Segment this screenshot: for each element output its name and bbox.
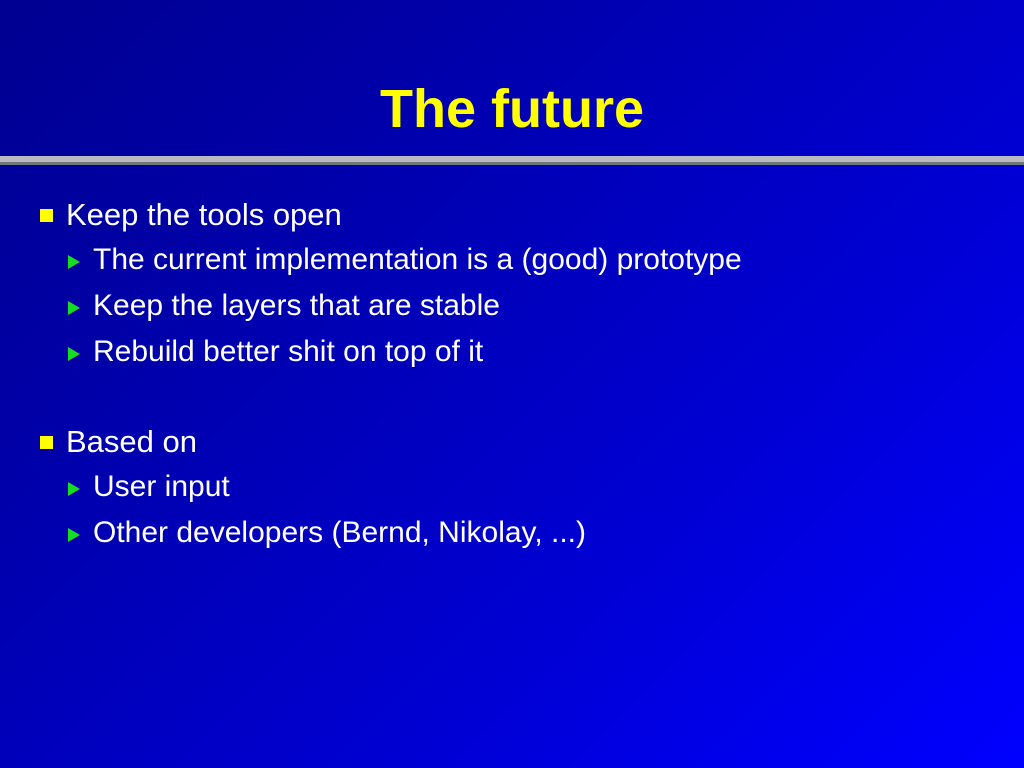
bullet-text: Other developers (Bernd, Nikolay, ...): [93, 514, 586, 552]
bullet-text: Keep the layers that are stable: [93, 287, 500, 325]
bullet-text: User input: [93, 468, 230, 506]
bullet-item-level2: Other developers (Bernd, Nikolay, ...): [0, 514, 1024, 560]
green-triangle-bullet-icon: [68, 347, 80, 361]
divider-dark-bar: [0, 162, 1024, 165]
title-divider: [0, 156, 1024, 165]
bullet-item-level1: Based on: [0, 423, 1024, 468]
slide-body: Keep the tools open The current implemen…: [0, 196, 1024, 756]
green-triangle-bullet-icon: [68, 528, 80, 542]
bullet-text: The current implementation is a (good) p…: [93, 241, 742, 279]
yellow-square-bullet-icon: [40, 209, 53, 222]
green-triangle-bullet-icon: [68, 255, 80, 269]
slide-title-area: The future: [0, 68, 1024, 150]
bullet-text: Rebuild better shit on top of it: [93, 333, 483, 371]
green-triangle-bullet-icon: [68, 482, 80, 496]
bullet-group-spacer: [0, 379, 1024, 423]
slide-title: The future: [380, 82, 644, 136]
bullet-text: Based on: [66, 423, 197, 461]
yellow-square-bullet-icon: [40, 436, 53, 449]
bullet-item-level2: Rebuild better shit on top of it: [0, 333, 1024, 379]
bullet-item-level1: Keep the tools open: [0, 196, 1024, 241]
presentation-slide: The future Keep the tools open The curre…: [0, 0, 1024, 768]
bullet-item-level2: User input: [0, 468, 1024, 514]
bullet-item-level2: The current implementation is a (good) p…: [0, 241, 1024, 287]
bullet-item-level2: Keep the layers that are stable: [0, 287, 1024, 333]
bullet-text: Keep the tools open: [66, 196, 342, 234]
green-triangle-bullet-icon: [68, 301, 80, 315]
